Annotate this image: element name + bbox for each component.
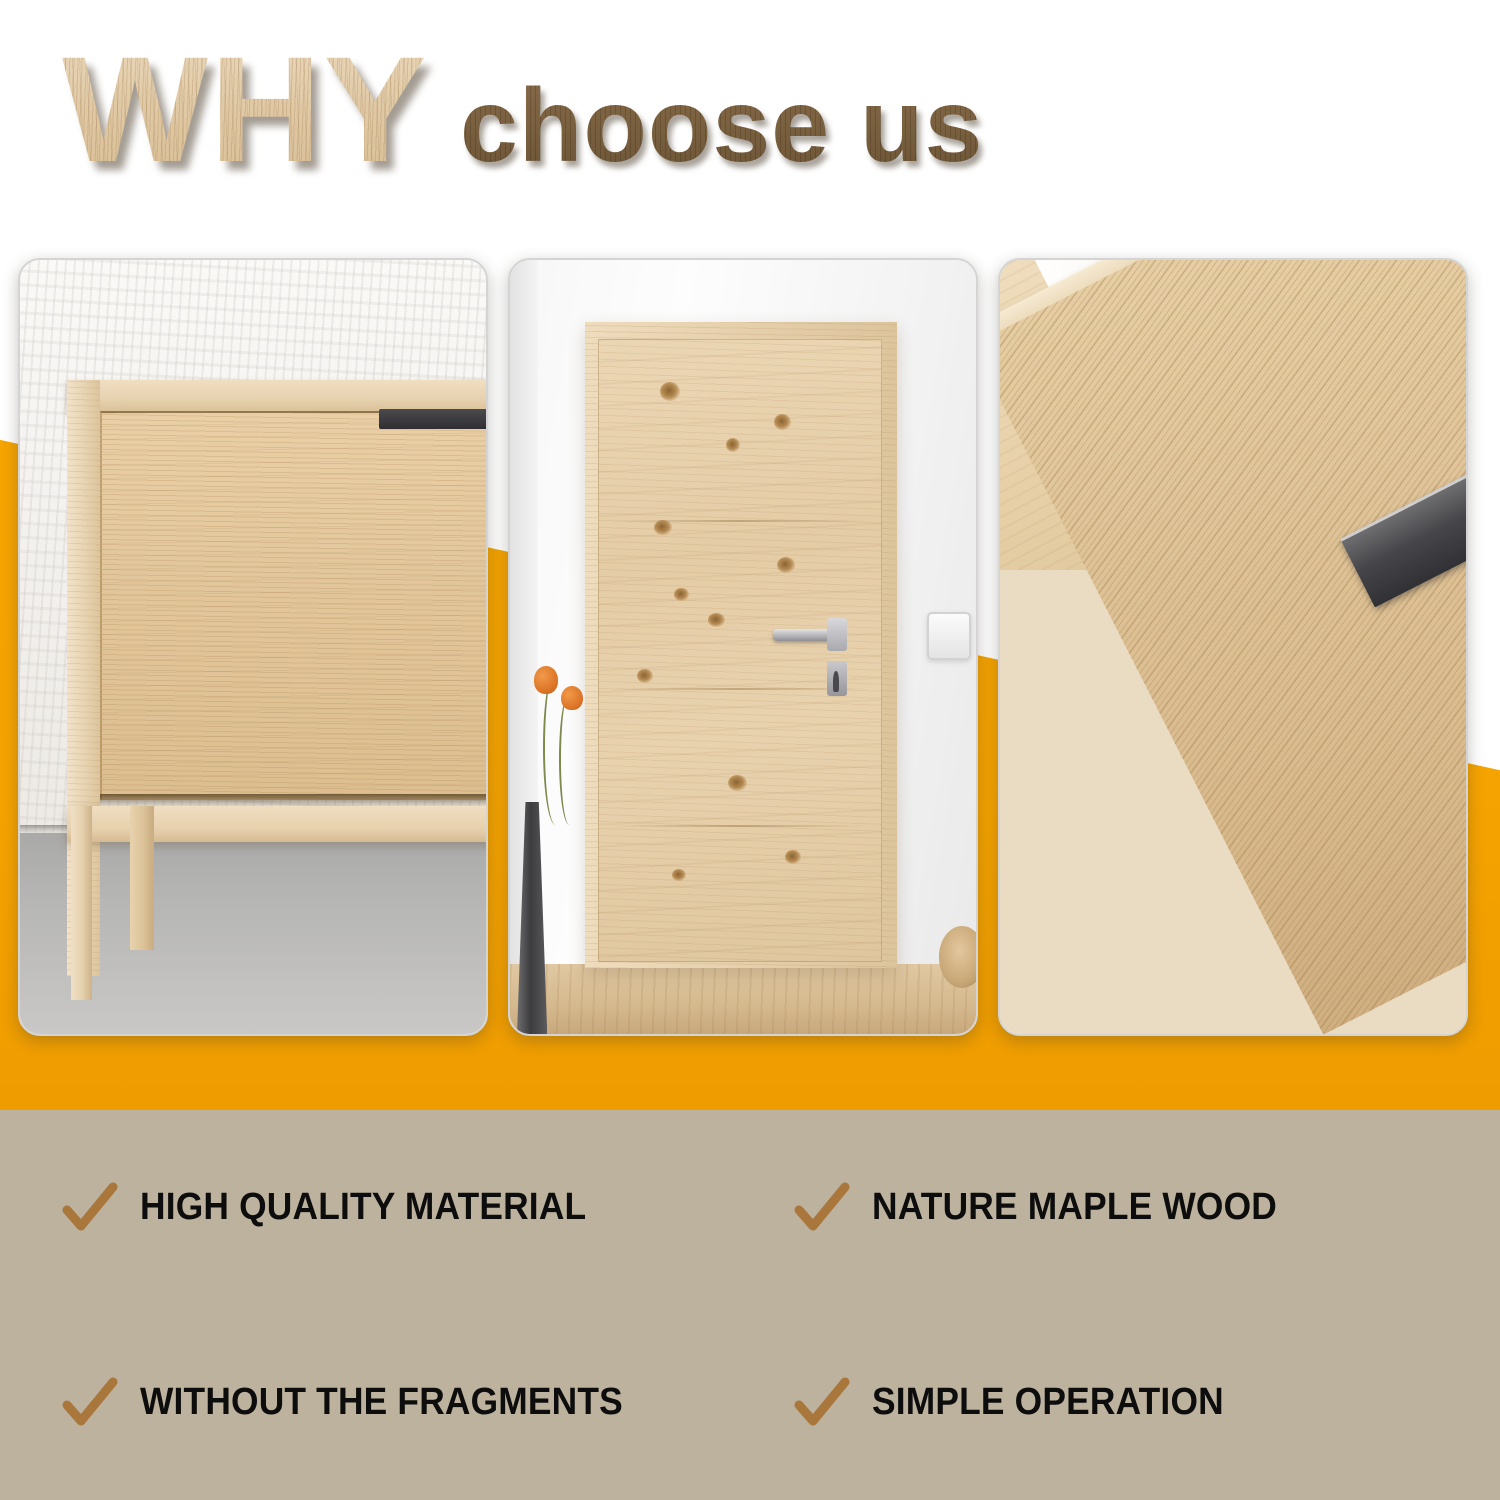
wood-knot-icon (672, 869, 686, 881)
door-keyhole-icon (833, 671, 839, 692)
door-floor (510, 964, 976, 1034)
door-frame (585, 322, 897, 968)
cabinet-drawer-shadow (99, 794, 486, 806)
headline: WHY choose us (62, 34, 983, 184)
wood-knot-icon (774, 414, 791, 430)
header: WHY choose us (0, 0, 1500, 250)
check-icon (62, 1375, 118, 1431)
poppy-flower (561, 686, 582, 711)
light-switch (927, 612, 971, 659)
check-icon (794, 1180, 850, 1236)
cabinet-leg-rear (130, 806, 154, 949)
feature-item-nature-maple-wood: NATURE MAPLE WOOD (750, 1110, 1500, 1305)
cabinet-leg-front (71, 806, 92, 1000)
cabinet-top-board (67, 380, 486, 413)
poppy-flower (534, 666, 558, 694)
feature-item-without-the-fragments: WITHOUT THE FRAGMENTS (0, 1305, 750, 1500)
wood-knot-icon (674, 588, 688, 600)
wood-knot-icon (785, 850, 801, 864)
feature-label: SIMPLE OPERATION (872, 1381, 1224, 1424)
features-panel: HIGH QUALITY MATERIAL NATURE MAPLE WOOD … (0, 1110, 1500, 1500)
wood-knot-icon (728, 775, 746, 791)
wood-knot-icon (708, 613, 725, 627)
cabinet-drawer-front (99, 411, 486, 800)
oak-door-photo (508, 258, 978, 1036)
feature-label: WITHOUT THE FRAGMENTS (140, 1381, 623, 1424)
check-icon (62, 1180, 118, 1236)
wood-knot-icon (637, 669, 653, 683)
cabinet-handle (379, 409, 486, 429)
feature-label: NATURE MAPLE WOOD (872, 1186, 1277, 1229)
features-list: HIGH QUALITY MATERIAL NATURE MAPLE WOOD … (0, 1110, 1500, 1500)
wood-knot-icon (654, 520, 671, 535)
headline-word-why: WHY (62, 34, 429, 184)
feature-label: HIGH QUALITY MATERIAL (140, 1186, 586, 1229)
wood-stump (939, 926, 976, 988)
wood-knot-icon (726, 438, 740, 452)
feature-item-simple-operation: SIMPLE OPERATION (750, 1305, 1500, 1500)
maple-cabinet-photo (18, 258, 488, 1036)
drawer-edge-closeup-photo (998, 258, 1468, 1036)
headline-word-choose-us: choose us (460, 74, 983, 178)
door-handle-rose (827, 618, 847, 652)
check-icon (794, 1375, 850, 1431)
flower-stem (559, 693, 580, 825)
wood-knot-icon (660, 382, 680, 401)
marketing-banner: WHY choose us (0, 0, 1500, 1500)
wood-knot-icon (777, 557, 795, 573)
feature-item-high-quality-material: HIGH QUALITY MATERIAL (0, 1110, 750, 1305)
